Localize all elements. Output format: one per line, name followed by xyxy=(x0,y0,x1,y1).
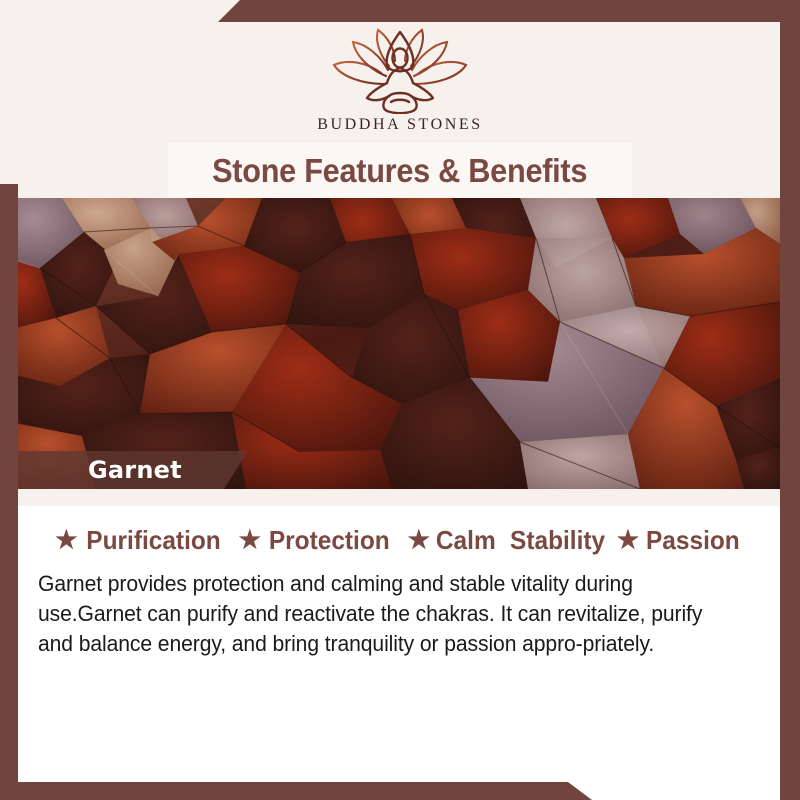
star-icon: ★ xyxy=(55,528,77,553)
lotus-meditation-logo-icon xyxy=(325,26,475,114)
benefit-passion: ★ Passion xyxy=(617,525,743,556)
star-icon: ★ xyxy=(617,528,639,553)
stone-name-banner: Garnet xyxy=(18,451,248,489)
benefits-row: ★ Purification ★ Protection ★ Calm Stabi… xyxy=(18,525,780,556)
benefit-stability: Stability xyxy=(507,525,608,556)
benefit-label: Stability xyxy=(510,525,605,556)
brand-logo-block: BUDDHA STONES xyxy=(0,26,800,134)
stone-name-text: Garnet xyxy=(88,456,182,484)
title-band: Stone Features & Benefits xyxy=(168,143,632,198)
benefit-label: Calm xyxy=(436,525,496,556)
stone-description: Garnet provides protection and calming a… xyxy=(38,569,737,659)
garnet-photo xyxy=(0,198,780,489)
benefit-purification: ★ Purification xyxy=(55,525,224,556)
benefit-calm: ★ Calm xyxy=(408,525,498,556)
benefit-protection: ★ Protection xyxy=(239,525,394,556)
frame-left-bar xyxy=(0,184,18,800)
benefit-label: Purification xyxy=(86,525,220,556)
benefit-label: Protection xyxy=(269,525,390,556)
star-icon: ★ xyxy=(408,528,430,553)
product-info-poster: BUDDHA STONES Stone Features & Benefits xyxy=(0,0,800,800)
star-icon: ★ xyxy=(239,528,261,553)
frame-bottom-bar xyxy=(0,782,800,800)
frame-right-bar xyxy=(780,0,800,800)
benefit-label: Passion xyxy=(646,525,740,556)
content-panel: ★ Purification ★ Protection ★ Calm Stabi… xyxy=(18,489,780,782)
page-title: Stone Features & Benefits xyxy=(212,152,587,190)
cream-divider-strip xyxy=(18,489,780,506)
brand-name-text: BUDDHA STONES xyxy=(317,116,483,134)
